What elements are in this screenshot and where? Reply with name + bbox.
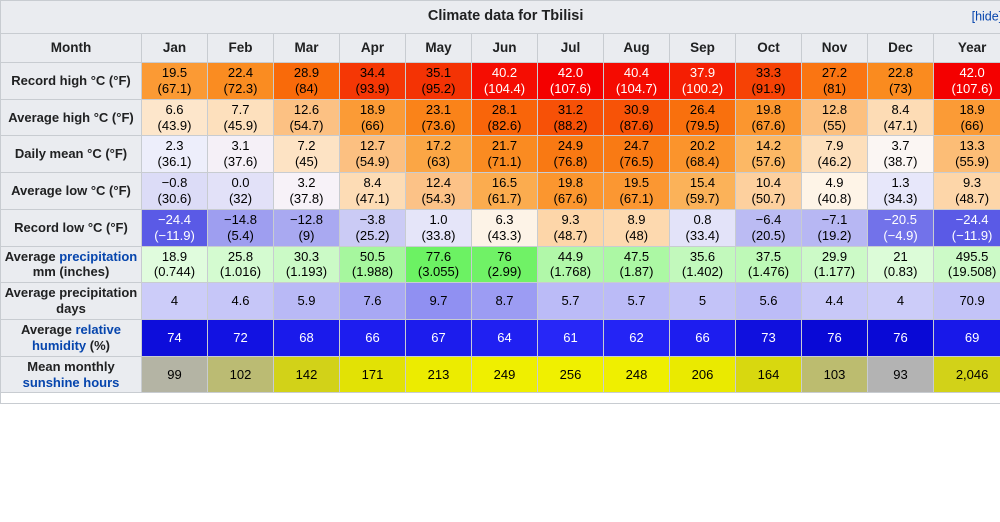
cell-value-primary: 66 bbox=[365, 330, 379, 345]
data-cell: 8.4(47.1) bbox=[868, 99, 934, 136]
data-cell: 12.6(54.7) bbox=[274, 99, 340, 136]
cell-value-primary: 5.9 bbox=[297, 293, 315, 308]
data-cell: 22.4(72.3) bbox=[208, 63, 274, 100]
data-cell: 20.2(68.4) bbox=[670, 136, 736, 173]
cell-value-secondary: (66) bbox=[343, 118, 402, 134]
cell-value-primary: 2.3 bbox=[165, 138, 183, 153]
row-label-text: mm (inches) bbox=[33, 264, 110, 279]
data-cell: 23.1(73.6) bbox=[406, 99, 472, 136]
cell-value-primary: 12.8 bbox=[822, 102, 847, 117]
cell-value-secondary: (48) bbox=[607, 228, 666, 244]
cell-value-primary: 40.2 bbox=[492, 65, 517, 80]
table-title-cell: Climate data for Tbilisi [hide] bbox=[1, 1, 1000, 34]
table-row: Average relative humidity (%)74726866676… bbox=[1, 320, 1000, 357]
cell-value-primary: −24.4 bbox=[956, 212, 989, 227]
data-cell: 35.1(95.2) bbox=[406, 63, 472, 100]
row-label: Record high °C (°F) bbox=[1, 63, 142, 100]
data-cell: 213 bbox=[406, 356, 472, 393]
data-cell: 29.9(1.177) bbox=[802, 246, 868, 283]
table-row: Mean monthly sunshine hours9910214217121… bbox=[1, 356, 1000, 393]
cell-value-secondary: (1.768) bbox=[541, 264, 600, 280]
data-cell: 76(2.99) bbox=[472, 246, 538, 283]
cell-value-secondary: (72.3) bbox=[211, 81, 270, 97]
data-cell: 8.4(47.1) bbox=[340, 173, 406, 210]
cell-value-secondary: (47.1) bbox=[343, 191, 402, 207]
data-cell: 1.3(34.3) bbox=[868, 173, 934, 210]
row-label-link[interactable]: sunshine hours bbox=[23, 375, 120, 390]
data-cell: 37.5(1.476) bbox=[736, 246, 802, 283]
data-cell: 73 bbox=[736, 320, 802, 357]
cell-value-secondary: (59.7) bbox=[673, 191, 732, 207]
data-cell: 34.4(93.9) bbox=[340, 63, 406, 100]
cell-value-secondary: (67.1) bbox=[145, 81, 204, 97]
data-cell: 142 bbox=[274, 356, 340, 393]
data-cell: 5.9 bbox=[274, 283, 340, 320]
cell-value-primary: −14.8 bbox=[224, 212, 257, 227]
data-cell: 0.8(33.4) bbox=[670, 209, 736, 246]
data-cell: 99 bbox=[142, 356, 208, 393]
data-cell: 18.9(0.744) bbox=[142, 246, 208, 283]
cell-value-secondary: (2.99) bbox=[475, 264, 534, 280]
data-cell: 70.9 bbox=[934, 283, 1000, 320]
cell-value-primary: 29.9 bbox=[822, 249, 847, 264]
data-cell: 3.7(38.7) bbox=[868, 136, 934, 173]
data-cell: 8.9(48) bbox=[604, 209, 670, 246]
data-cell: 47.5(1.87) bbox=[604, 246, 670, 283]
table-head: Climate data for Tbilisi [hide] MonthJan… bbox=[1, 1, 1000, 63]
cell-value-primary: 213 bbox=[428, 367, 450, 382]
data-cell: 15.4(59.7) bbox=[670, 173, 736, 210]
data-cell: 7.9(46.2) bbox=[802, 136, 868, 173]
data-cell: 249 bbox=[472, 356, 538, 393]
cell-value-primary: 3.7 bbox=[891, 138, 909, 153]
data-cell: 28.9(84) bbox=[274, 63, 340, 100]
data-cell: 33.3(91.9) bbox=[736, 63, 802, 100]
cell-value-primary: 25.8 bbox=[228, 249, 253, 264]
row-label-text: Average precipitation days bbox=[5, 285, 137, 316]
cell-value-primary: 1.3 bbox=[891, 175, 909, 190]
data-cell: 40.4(104.7) bbox=[604, 63, 670, 100]
cell-value-primary: 18.9 bbox=[162, 249, 187, 264]
data-cell: 206 bbox=[670, 356, 736, 393]
cell-value-secondary: (66) bbox=[937, 118, 1000, 134]
column-header-nov: Nov bbox=[802, 34, 868, 63]
data-cell: 5.7 bbox=[604, 283, 670, 320]
data-cell: 76 bbox=[802, 320, 868, 357]
column-header-year: Year bbox=[934, 34, 1000, 63]
cell-value-secondary: (36.1) bbox=[145, 154, 204, 170]
cell-value-primary: −20.5 bbox=[884, 212, 917, 227]
data-cell: 0.0(32) bbox=[208, 173, 274, 210]
cell-value-secondary: (54.3) bbox=[409, 191, 468, 207]
cell-value-secondary: (104.4) bbox=[475, 81, 534, 97]
data-cell: 6.6(43.9) bbox=[142, 99, 208, 136]
table-row: Average high °C (°F)6.6(43.9)7.7(45.9)12… bbox=[1, 99, 1000, 136]
table-row: Daily mean °C (°F)2.3(36.1)3.1(37.6)7.2(… bbox=[1, 136, 1000, 173]
data-cell: −3.8(25.2) bbox=[340, 209, 406, 246]
data-cell: 19.8(67.6) bbox=[538, 173, 604, 210]
cell-value-primary: 15.4 bbox=[690, 175, 715, 190]
cell-value-secondary: (46.2) bbox=[805, 154, 864, 170]
data-cell: −6.4(20.5) bbox=[736, 209, 802, 246]
data-cell: 67 bbox=[406, 320, 472, 357]
cell-value-primary: 7.2 bbox=[297, 138, 315, 153]
data-cell: 26.4(79.5) bbox=[670, 99, 736, 136]
data-cell: −0.8(30.6) bbox=[142, 173, 208, 210]
data-cell: 64 bbox=[472, 320, 538, 357]
cell-value-primary: 18.9 bbox=[360, 102, 385, 117]
cell-value-primary: 33.3 bbox=[756, 65, 781, 80]
data-cell: 69 bbox=[934, 320, 1000, 357]
cell-value-primary: 62 bbox=[629, 330, 643, 345]
cell-value-secondary: (43.9) bbox=[145, 118, 204, 134]
cell-value-secondary: (71.1) bbox=[475, 154, 534, 170]
cell-value-secondary: (30.6) bbox=[145, 191, 204, 207]
month-header-row: MonthJanFebMarAprMayJunJulAugSepOctNovDe… bbox=[1, 34, 1000, 63]
cell-value-primary: 74 bbox=[167, 330, 181, 345]
cell-value-secondary: (48.7) bbox=[937, 191, 1000, 207]
climate-data-table: Climate data for Tbilisi [hide] MonthJan… bbox=[0, 0, 1000, 404]
cell-value-primary: −3.8 bbox=[360, 212, 386, 227]
cell-value-primary: 14.2 bbox=[756, 138, 781, 153]
cell-value-primary: 16.5 bbox=[492, 175, 517, 190]
data-cell: 76 bbox=[868, 320, 934, 357]
cell-value-primary: 3.2 bbox=[297, 175, 315, 190]
cell-value-secondary: (45) bbox=[277, 154, 336, 170]
data-cell: 256 bbox=[538, 356, 604, 393]
data-cell: 28.1(82.6) bbox=[472, 99, 538, 136]
page-title: Climate data for Tbilisi bbox=[4, 8, 1000, 26]
data-cell: 7.2(45) bbox=[274, 136, 340, 173]
row-label: Daily mean °C (°F) bbox=[1, 136, 142, 173]
cell-value-primary: 9.3 bbox=[561, 212, 579, 227]
cell-value-primary: 18.9 bbox=[959, 102, 984, 117]
data-cell: −14.8(5.4) bbox=[208, 209, 274, 246]
cell-value-secondary: (20.5) bbox=[739, 228, 798, 244]
cell-value-secondary: (3.055) bbox=[409, 264, 468, 280]
cell-value-secondary: (100.2) bbox=[673, 81, 732, 97]
cell-value-secondary: (37.8) bbox=[277, 191, 336, 207]
cell-value-primary: 23.1 bbox=[426, 102, 451, 117]
cell-value-primary: 8.4 bbox=[891, 102, 909, 117]
cell-value-secondary: (1.016) bbox=[211, 264, 270, 280]
data-cell: 7.7(45.9) bbox=[208, 99, 274, 136]
cell-value-primary: 206 bbox=[692, 367, 714, 382]
table-body: Record high °C (°F)19.5(67.1)22.4(72.3)2… bbox=[1, 63, 1000, 393]
cell-value-secondary: (47.1) bbox=[871, 118, 930, 134]
cell-value-primary: 19.8 bbox=[756, 102, 781, 117]
row-label: Average high °C (°F) bbox=[1, 99, 142, 136]
data-cell: 25.8(1.016) bbox=[208, 246, 274, 283]
cell-value-primary: 93 bbox=[893, 367, 907, 382]
column-header-mar: Mar bbox=[274, 34, 340, 63]
cell-value-secondary: (57.6) bbox=[739, 154, 798, 170]
cell-value-primary: 164 bbox=[758, 367, 780, 382]
row-label-link[interactable]: precipitation bbox=[59, 249, 137, 264]
cell-value-primary: 5 bbox=[699, 293, 706, 308]
cell-value-primary: 77.6 bbox=[426, 249, 451, 264]
cell-value-secondary: (1.87) bbox=[607, 264, 666, 280]
cell-value-primary: 70.9 bbox=[959, 293, 984, 308]
column-header-jan: Jan bbox=[142, 34, 208, 63]
cell-value-primary: 248 bbox=[626, 367, 648, 382]
cell-value-primary: 7.7 bbox=[231, 102, 249, 117]
data-cell: 12.8(55) bbox=[802, 99, 868, 136]
cell-value-secondary: (73) bbox=[871, 81, 930, 97]
hide-link[interactable]: [hide] bbox=[972, 9, 1000, 24]
cell-value-secondary: (63) bbox=[409, 154, 468, 170]
cell-value-secondary: (76.8) bbox=[541, 154, 600, 170]
column-header-may: May bbox=[406, 34, 472, 63]
cell-value-primary: 13.3 bbox=[959, 138, 984, 153]
cell-value-primary: 142 bbox=[296, 367, 318, 382]
data-cell: 5 bbox=[670, 283, 736, 320]
data-cell: 9.3(48.7) bbox=[934, 173, 1000, 210]
cell-value-secondary: (19.2) bbox=[805, 228, 864, 244]
cell-value-primary: 99 bbox=[167, 367, 181, 382]
cell-value-primary: 4.6 bbox=[231, 293, 249, 308]
data-cell: 19.8(67.6) bbox=[736, 99, 802, 136]
data-cell: 8.7 bbox=[472, 283, 538, 320]
table-row: Average low °C (°F)−0.8(30.6)0.0(32)3.2(… bbox=[1, 173, 1000, 210]
cell-value-secondary: (37.6) bbox=[211, 154, 270, 170]
cell-value-primary: 67 bbox=[431, 330, 445, 345]
cell-value-primary: 47.5 bbox=[624, 249, 649, 264]
cell-value-secondary: (81) bbox=[805, 81, 864, 97]
cell-value-primary: 21 bbox=[893, 249, 907, 264]
data-cell: 30.3(1.193) bbox=[274, 246, 340, 283]
data-cell: 16.5(61.7) bbox=[472, 173, 538, 210]
table-row: Record high °C (°F)19.5(67.1)22.4(72.3)2… bbox=[1, 63, 1000, 100]
table-foot bbox=[1, 393, 1000, 404]
table-row: Record low °C (°F)−24.4(−11.9)−14.8(5.4)… bbox=[1, 209, 1000, 246]
cell-value-primary: 24.7 bbox=[624, 138, 649, 153]
row-label: Mean monthly sunshine hours bbox=[1, 356, 142, 393]
cell-value-secondary: (33.8) bbox=[409, 228, 468, 244]
cell-value-primary: 61 bbox=[563, 330, 577, 345]
cell-value-primary: 27.2 bbox=[822, 65, 847, 80]
row-label: Average precipitation days bbox=[1, 283, 142, 320]
row-label-text: Average bbox=[21, 322, 75, 337]
data-cell: −12.8(9) bbox=[274, 209, 340, 246]
cell-value-secondary: (82.6) bbox=[475, 118, 534, 134]
cell-value-secondary: (1.177) bbox=[805, 264, 864, 280]
data-cell: 4.4 bbox=[802, 283, 868, 320]
cell-value-primary: 12.7 bbox=[360, 138, 385, 153]
data-cell: 1.0(33.8) bbox=[406, 209, 472, 246]
cell-value-secondary: (107.6) bbox=[541, 81, 600, 97]
data-cell: 10.4(50.7) bbox=[736, 173, 802, 210]
row-label-text: Mean monthly bbox=[27, 359, 114, 374]
data-cell: 31.2(88.2) bbox=[538, 99, 604, 136]
data-cell: 17.2(63) bbox=[406, 136, 472, 173]
cell-value-primary: 6.3 bbox=[495, 212, 513, 227]
data-cell: 164 bbox=[736, 356, 802, 393]
data-cell: 12.4(54.3) bbox=[406, 173, 472, 210]
cell-value-primary: 103 bbox=[824, 367, 846, 382]
cell-value-secondary: (0.744) bbox=[145, 264, 204, 280]
data-cell: 18.9(66) bbox=[340, 99, 406, 136]
row-label: Record low °C (°F) bbox=[1, 209, 142, 246]
data-cell: 72 bbox=[208, 320, 274, 357]
cell-value-secondary: (61.7) bbox=[475, 191, 534, 207]
cell-value-primary: 5.7 bbox=[561, 293, 579, 308]
cell-value-primary: 7.6 bbox=[363, 293, 381, 308]
cell-value-primary: 35.6 bbox=[690, 249, 715, 264]
data-cell: 5.7 bbox=[538, 283, 604, 320]
cell-value-primary: 66 bbox=[695, 330, 709, 345]
row-label-text: Daily mean °C (°F) bbox=[15, 146, 127, 161]
cell-value-primary: 34.4 bbox=[360, 65, 385, 80]
data-cell: 62 bbox=[604, 320, 670, 357]
data-cell: 24.7(76.5) bbox=[604, 136, 670, 173]
column-header-month: Month bbox=[1, 34, 142, 63]
data-cell: −24.4(−11.9) bbox=[142, 209, 208, 246]
cell-value-primary: 40.4 bbox=[624, 65, 649, 80]
cell-value-secondary: (55.9) bbox=[937, 154, 1000, 170]
cell-value-primary: 30.9 bbox=[624, 102, 649, 117]
cell-value-primary: 28.1 bbox=[492, 102, 517, 117]
data-cell: 42.0(107.6) bbox=[538, 63, 604, 100]
data-cell: 103 bbox=[802, 356, 868, 393]
cell-value-secondary: (9) bbox=[277, 228, 336, 244]
data-cell: 21.7(71.1) bbox=[472, 136, 538, 173]
cell-value-primary: 0.0 bbox=[231, 175, 249, 190]
cell-value-primary: 64 bbox=[497, 330, 511, 345]
cell-value-secondary: (68.4) bbox=[673, 154, 732, 170]
cell-value-primary: 73 bbox=[761, 330, 775, 345]
cell-value-secondary: (32) bbox=[211, 191, 270, 207]
cell-value-secondary: (54.9) bbox=[343, 154, 402, 170]
cell-value-secondary: (−4.9) bbox=[871, 228, 930, 244]
cell-value-primary: 10.4 bbox=[756, 175, 781, 190]
data-cell: 66 bbox=[340, 320, 406, 357]
cell-value-secondary: (67.6) bbox=[541, 191, 600, 207]
cell-value-secondary: (48.7) bbox=[541, 228, 600, 244]
title-row: Climate data for Tbilisi [hide] bbox=[1, 1, 1000, 34]
cell-value-secondary: (40.8) bbox=[805, 191, 864, 207]
data-cell: 37.9(100.2) bbox=[670, 63, 736, 100]
cell-value-primary: 30.3 bbox=[294, 249, 319, 264]
cell-value-primary: 102 bbox=[230, 367, 252, 382]
cell-value-secondary: (19.508) bbox=[937, 264, 1000, 280]
cell-value-primary: 22.4 bbox=[228, 65, 253, 80]
data-cell: 171 bbox=[340, 356, 406, 393]
cell-value-secondary: (33.4) bbox=[673, 228, 732, 244]
data-cell: 3.1(37.6) bbox=[208, 136, 274, 173]
cell-value-primary: 9.3 bbox=[963, 175, 981, 190]
data-cell: 27.2(81) bbox=[802, 63, 868, 100]
data-cell: 93 bbox=[868, 356, 934, 393]
data-cell: 77.6(3.055) bbox=[406, 246, 472, 283]
cell-value-primary: 37.9 bbox=[690, 65, 715, 80]
data-cell: 248 bbox=[604, 356, 670, 393]
data-cell: −24.4(−11.9) bbox=[934, 209, 1000, 246]
data-cell: 19.5(67.1) bbox=[604, 173, 670, 210]
data-cell: 13.3(55.9) bbox=[934, 136, 1000, 173]
cell-value-primary: 5.7 bbox=[627, 293, 645, 308]
cell-value-primary: 42.0 bbox=[558, 65, 583, 80]
cell-value-primary: 4 bbox=[897, 293, 904, 308]
cell-value-primary: 2,046 bbox=[956, 367, 989, 382]
data-cell: 74 bbox=[142, 320, 208, 357]
cell-value-secondary: (67.6) bbox=[739, 118, 798, 134]
cell-value-secondary: (73.6) bbox=[409, 118, 468, 134]
table-row: Average precipitation mm (inches)18.9(0.… bbox=[1, 246, 1000, 283]
cell-value-secondary: (5.4) bbox=[211, 228, 270, 244]
column-header-oct: Oct bbox=[736, 34, 802, 63]
data-cell: 495.5(19.508) bbox=[934, 246, 1000, 283]
row-label-text: Average bbox=[5, 249, 59, 264]
cell-value-primary: 19.5 bbox=[162, 65, 187, 80]
cell-value-primary: −6.4 bbox=[756, 212, 782, 227]
row-label-text: (%) bbox=[86, 338, 110, 353]
column-header-aug: Aug bbox=[604, 34, 670, 63]
cell-value-primary: 4.9 bbox=[825, 175, 843, 190]
cell-value-secondary: (79.5) bbox=[673, 118, 732, 134]
cell-value-primary: −0.8 bbox=[162, 175, 188, 190]
cell-value-primary: 68 bbox=[299, 330, 313, 345]
row-label: Average low °C (°F) bbox=[1, 173, 142, 210]
data-cell: 21(0.83) bbox=[868, 246, 934, 283]
cell-value-primary: 256 bbox=[560, 367, 582, 382]
cell-value-secondary: (0.83) bbox=[871, 264, 930, 280]
cell-value-primary: 19.5 bbox=[624, 175, 649, 190]
column-header-feb: Feb bbox=[208, 34, 274, 63]
data-cell: 2,046 bbox=[934, 356, 1000, 393]
data-cell: 3.2(37.8) bbox=[274, 173, 340, 210]
cell-value-primary: 12.6 bbox=[294, 102, 319, 117]
cell-value-primary: 249 bbox=[494, 367, 516, 382]
cell-value-primary: 7.9 bbox=[825, 138, 843, 153]
data-cell: 61 bbox=[538, 320, 604, 357]
row-label: Average relative humidity (%) bbox=[1, 320, 142, 357]
data-cell: 9.7 bbox=[406, 283, 472, 320]
cell-value-primary: 76 bbox=[497, 249, 511, 264]
data-cell: 22.8(73) bbox=[868, 63, 934, 100]
column-header-jul: Jul bbox=[538, 34, 604, 63]
cell-value-primary: 1.0 bbox=[429, 212, 447, 227]
data-cell: −20.5(−4.9) bbox=[868, 209, 934, 246]
data-cell: 40.2(104.4) bbox=[472, 63, 538, 100]
data-cell: 7.6 bbox=[340, 283, 406, 320]
cell-value-primary: 8.9 bbox=[627, 212, 645, 227]
data-cell: −7.1(19.2) bbox=[802, 209, 868, 246]
data-cell: 44.9(1.768) bbox=[538, 246, 604, 283]
data-cell: 5.6 bbox=[736, 283, 802, 320]
data-cell: 50.5(1.988) bbox=[340, 246, 406, 283]
cell-value-primary: 21.7 bbox=[492, 138, 517, 153]
data-cell: 35.6(1.402) bbox=[670, 246, 736, 283]
cell-value-secondary: (84) bbox=[277, 81, 336, 97]
row-label-text: Record low °C (°F) bbox=[14, 220, 128, 235]
cell-value-primary: 69 bbox=[965, 330, 979, 345]
cell-value-primary: 8.7 bbox=[495, 293, 513, 308]
cell-value-secondary: (34.3) bbox=[871, 191, 930, 207]
cell-value-secondary: (−11.9) bbox=[937, 228, 1000, 244]
cell-value-secondary: (67.1) bbox=[607, 191, 666, 207]
cell-value-primary: 26.4 bbox=[690, 102, 715, 117]
table-footer-cell bbox=[1, 393, 1000, 404]
cell-value-secondary: (45.9) bbox=[211, 118, 270, 134]
cell-value-primary: −7.1 bbox=[822, 212, 848, 227]
table-footer-row bbox=[1, 393, 1000, 404]
cell-value-primary: 4.4 bbox=[825, 293, 843, 308]
cell-value-secondary: (88.2) bbox=[541, 118, 600, 134]
cell-value-primary: 171 bbox=[362, 367, 384, 382]
data-cell: 4 bbox=[868, 283, 934, 320]
cell-value-secondary: (91.9) bbox=[739, 81, 798, 97]
